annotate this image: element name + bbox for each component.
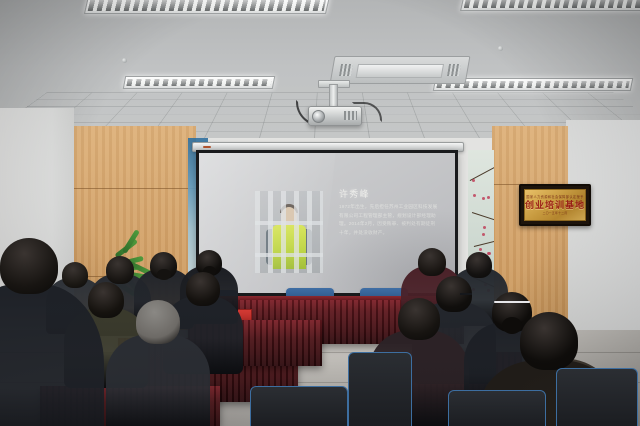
mural-blossom	[482, 233, 485, 236]
vent-louver-left	[339, 64, 353, 76]
light-fixture-front-right	[460, 0, 640, 11]
attendee-head	[466, 252, 492, 278]
slide-person-name: 许秀峰	[339, 187, 370, 200]
light-fixture-front-left	[84, 0, 330, 14]
photo-bar-rail	[255, 221, 323, 225]
audience-chair-back	[250, 386, 348, 426]
attendee-head	[136, 300, 180, 344]
attendee-head	[88, 282, 124, 318]
vent-louver-right	[447, 64, 461, 76]
hair-band	[494, 301, 530, 303]
photo-bars	[255, 191, 323, 273]
audience-chair-back	[556, 368, 638, 426]
mural-blossom	[483, 226, 486, 229]
attendee-head	[398, 298, 440, 340]
sprinkler-head	[498, 46, 503, 51]
hair-bun	[157, 269, 171, 280]
light-glow	[124, 77, 274, 88]
panel-seam	[74, 188, 196, 189]
mural-blossom	[487, 196, 490, 199]
mural-blossom	[472, 179, 475, 182]
inmate-interview-photo	[255, 191, 323, 273]
attendee-head	[418, 248, 446, 276]
light-glow	[85, 0, 329, 13]
glasses-temple	[460, 293, 472, 295]
light-glow	[461, 0, 640, 10]
plaque-main-text: 创业培训基地	[525, 201, 585, 210]
photo-bar-rail	[255, 253, 323, 257]
plaque-bottom-text: 二〇一五年十二月	[543, 212, 568, 215]
attendee-head	[62, 262, 88, 288]
plaque-face: 国家人力资源和社会保障部认定授予 创业培训基地 二〇一五年十二月	[524, 189, 586, 221]
vent-slot	[356, 64, 444, 77]
audience-chair-back	[348, 352, 412, 426]
mural-branch	[474, 239, 494, 248]
attendee-head	[520, 312, 578, 370]
hair-bun	[502, 317, 522, 334]
audience-chair-back	[448, 390, 546, 426]
conference-room-photo: 国家人力资源和社会保障部认定授予 创业培训基地 二〇一五年十二月 许秀峰 197…	[0, 0, 640, 426]
sprinkler-head	[122, 58, 127, 63]
award-plaque: 国家人力资源和社会保障部认定授予 创业培训基地 二〇一五年十二月	[519, 184, 591, 226]
plaque-top-text: 国家人力资源和社会保障部认定授予	[526, 196, 583, 199]
mural-blossom	[473, 194, 476, 197]
wall-column-right	[566, 120, 640, 340]
mural-blossom	[479, 248, 482, 251]
attendee-head	[106, 256, 134, 284]
attendee-head	[186, 272, 220, 306]
mural-blossom	[482, 197, 485, 200]
light-fixture-back-left	[123, 76, 276, 89]
projector-lens	[312, 110, 325, 123]
mural-branch	[472, 212, 494, 224]
attendee-head	[0, 238, 58, 294]
ceiling-air-conditioner	[330, 56, 471, 84]
attendee-torso	[106, 334, 210, 426]
projector-vent	[344, 111, 357, 120]
screen-casing-label	[203, 146, 211, 148]
